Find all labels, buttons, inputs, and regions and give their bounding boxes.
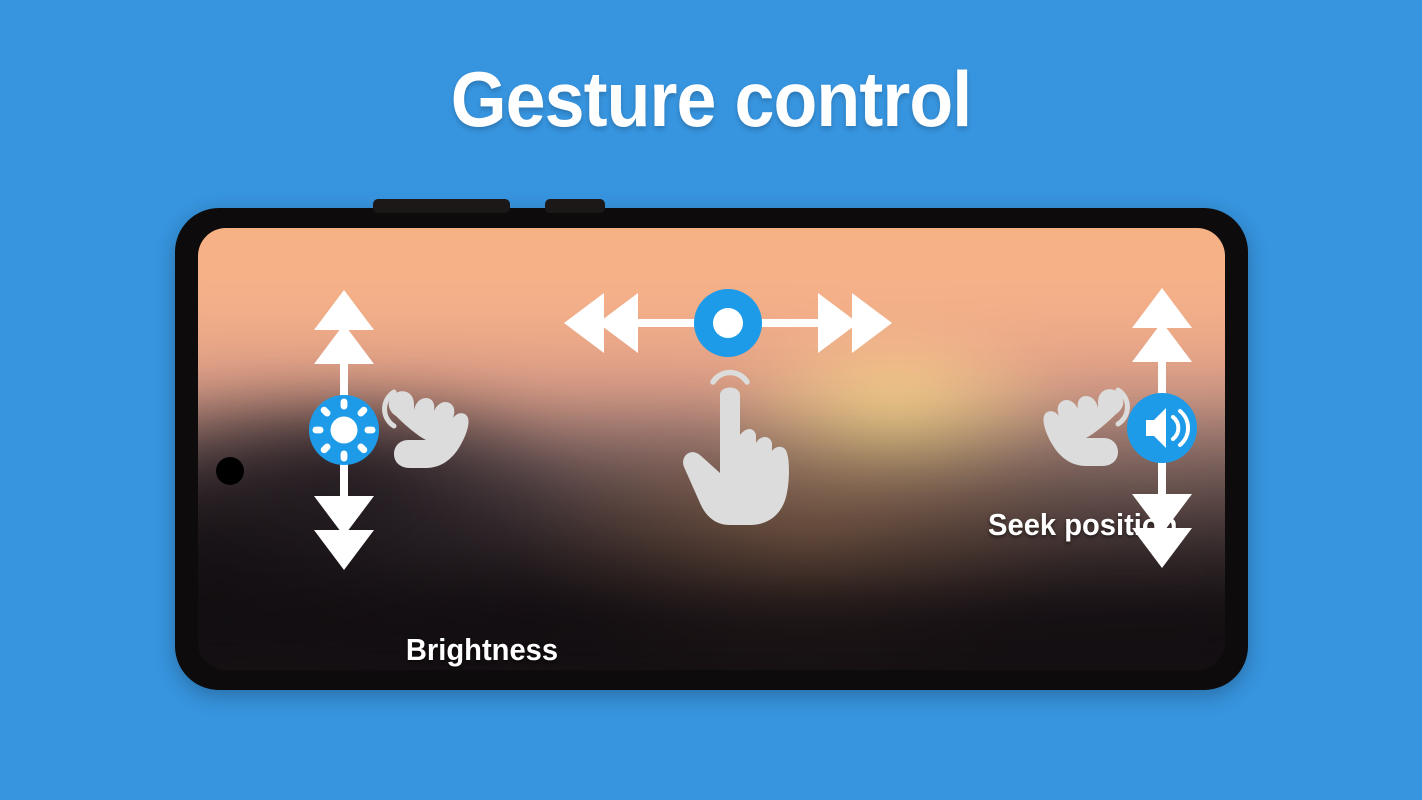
gesture-seek-position[interactable]: Seek position: [558, 273, 898, 568]
volume-rocker-button[interactable]: [373, 199, 510, 213]
gesture-label-brightness: Brightness: [406, 632, 558, 668]
gesture-brightness[interactable]: Brightness: [286, 278, 516, 583]
gesture-volume[interactable]: Volume: [1028, 276, 1225, 581]
phone-screen[interactable]: Brightness: [198, 228, 1225, 670]
phone-device-frame: Brightness: [175, 208, 1248, 690]
punch-hole-camera-icon: [216, 457, 244, 485]
gesture-control-promo-screen: Gesture control: [0, 0, 1422, 800]
speaker-volume-icon: [1127, 393, 1197, 463]
brightness-sun-icon: [309, 395, 379, 465]
hand-tap-up-icon: [683, 373, 789, 525]
hand-swipe-right-icon: [1043, 389, 1127, 466]
power-button[interactable]: [545, 199, 605, 213]
page-title: Gesture control: [57, 60, 1365, 138]
seek-handle-icon: [694, 289, 762, 357]
hand-swipe-left-icon: [385, 391, 469, 468]
